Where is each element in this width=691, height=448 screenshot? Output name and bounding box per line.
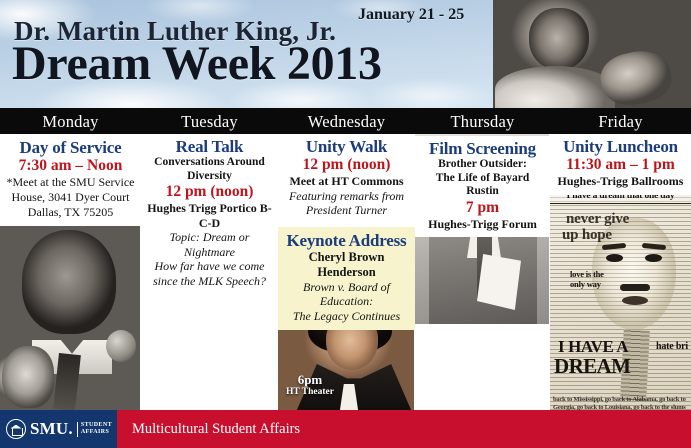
event-title: Film Screening [419,140,546,158]
page-title-line2: Dream Week 2013 [12,40,382,88]
collage-fine-print: back to Mississippi, go back to Alabama,… [550,396,691,410]
student-affairs-line2: Affairs [81,429,112,437]
collage-phrase-1: never give [550,212,691,227]
overlay-time: 6pm [286,373,334,387]
collage-phrase-4-line1: I HAVE A [550,338,691,355]
event-time: 12 pm (noon) [282,156,411,174]
event-location: Hughes-Trigg Forum [419,217,546,231]
poster-footer: SMU. Student Affairs Multicultural Stude… [0,410,691,448]
student-affairs-label: Student Affairs [77,422,112,437]
day-column-tuesday: Real Talk Conversations Around Diversity… [141,134,278,410]
mlk-dream-week-poster: Dr. Martin Luther King, Jr. January 21 -… [0,0,691,448]
event-subtitle-line1: Brown v. Board of Education: [282,280,411,309]
portrait-face [529,8,589,70]
day-column-thursday: Film Screening Brother Outsider: The Lif… [415,134,550,410]
event-speaker: Cheryl Brown Henderson [282,250,411,280]
collage-phrase-3: love is the only way [550,270,691,290]
event-date-range: January 21 - 25 [358,6,464,24]
event-card-day-of-service: Day of Service 7:30 am – Noon *Meet at t… [0,134,141,226]
event-location: Hughes Trigg Portico B-C-D [145,201,274,230]
event-note-line2: House, 3041 Dyer Court [4,190,137,205]
event-time: 7 pm [419,199,546,217]
portrait-shoulder [495,66,615,108]
smu-wordmark: SMU. [30,419,73,439]
event-time: 12 pm (noon) [145,183,274,201]
event-note-line2: President Turner [282,203,411,218]
day-column-friday: Unity Luncheon 11:30 am – 1 pm Hughes-Tr… [550,134,691,410]
event-title: Day of Service [4,139,137,157]
event-note-line3: Dallas, TX 75205 [4,205,137,220]
event-topic-line3: since the MLK Speech? [145,274,274,289]
event-topic-line2: How far have we come [145,259,274,274]
collage-phrase-4-line2: DREAM [550,356,691,377]
event-subtitle-line2: The Legacy Continues [282,309,411,324]
event-note-line1: *Meet at the SMU Service [4,175,137,190]
photo-papers [477,254,521,310]
photo-hand [2,346,54,408]
microphone-icon [106,330,136,362]
smu-student-affairs-logo: SMU. Student Affairs [0,410,117,448]
mlk-portrait-photo [493,0,691,108]
weekday-header-bar: Monday Tuesday Wednesday Thursday Friday [0,108,691,134]
event-subtitle-line2: The Life of Bayard Rustin [419,172,546,199]
event-title: Real Talk [145,138,274,156]
event-title: Unity Luncheon [554,138,687,156]
photo-overlay-caption: 6pm HT Theater [286,373,334,398]
photo-tie [53,353,81,410]
event-card-real-talk: Real Talk Conversations Around Diversity… [141,134,278,295]
smu-seal-icon [6,419,26,439]
day-column-monday: Day of Service 7:30 am – Noon *Meet at t… [0,134,141,410]
footer-department-name: Multicultural Student Affairs [132,410,300,448]
event-topic-line1: Topic: Dream or Nightmare [145,230,274,259]
mlk-speaking-at-microphones-photo [0,226,141,410]
weekday-label-tuesday: Tuesday [141,109,278,134]
photo-eye-right [645,254,662,262]
event-title: Unity Walk [282,138,411,156]
portrait-hand [596,45,675,108]
event-time: 11:30 am – 1 pm [554,156,687,174]
event-subtitle-line1: Brother Outsider: [419,158,546,172]
event-card-unity-walk: Unity Walk 12 pm (noon) Meet at HT Commo… [278,134,415,224]
student-affairs-line1: Student [81,422,112,430]
weekday-label-wednesday: Wednesday [278,109,415,134]
day-column-wednesday: Unity Walk 12 pm (noon) Meet at HT Commo… [278,134,415,410]
poster-header: Dr. Martin Luther King, Jr. January 21 -… [0,0,691,108]
event-subtitle: Conversations Around Diversity [145,156,274,183]
photo-head [22,230,116,334]
photo-eye-left [606,254,623,262]
event-location: Hughes-Trigg Ballrooms [554,174,687,188]
photo-mouth [622,296,648,305]
event-location: Meet at HT Commons [282,174,411,188]
weekday-label-thursday: Thursday [415,109,550,134]
event-time: 7:30 am – Noon [4,157,137,175]
event-note-line1: Featuring remarks from [282,189,411,204]
collage-phrase-2: up hope [550,228,691,243]
overlay-venue: HT Theater [286,387,334,398]
weekday-label-monday: Monday [0,109,141,134]
event-card-film-screening: Film Screening Brother Outsider: The Lif… [415,136,550,237]
schedule-grid: Day of Service 7:30 am – Noon *Meet at t… [0,134,691,410]
event-card-keynote-address: Keynote Address Cheryl Brown Henderson B… [278,227,415,330]
mlk-newspaper-text-collage-photo: I have a dream that one day never give u… [550,188,691,410]
event-card-unity-luncheon: Unity Luncheon 11:30 am – 1 pm Hughes-Tr… [550,134,691,195]
weekday-label-friday: Friday [550,109,691,134]
collage-phrase-3-line2: only way [570,280,691,290]
event-title: Keynote Address [282,232,411,250]
